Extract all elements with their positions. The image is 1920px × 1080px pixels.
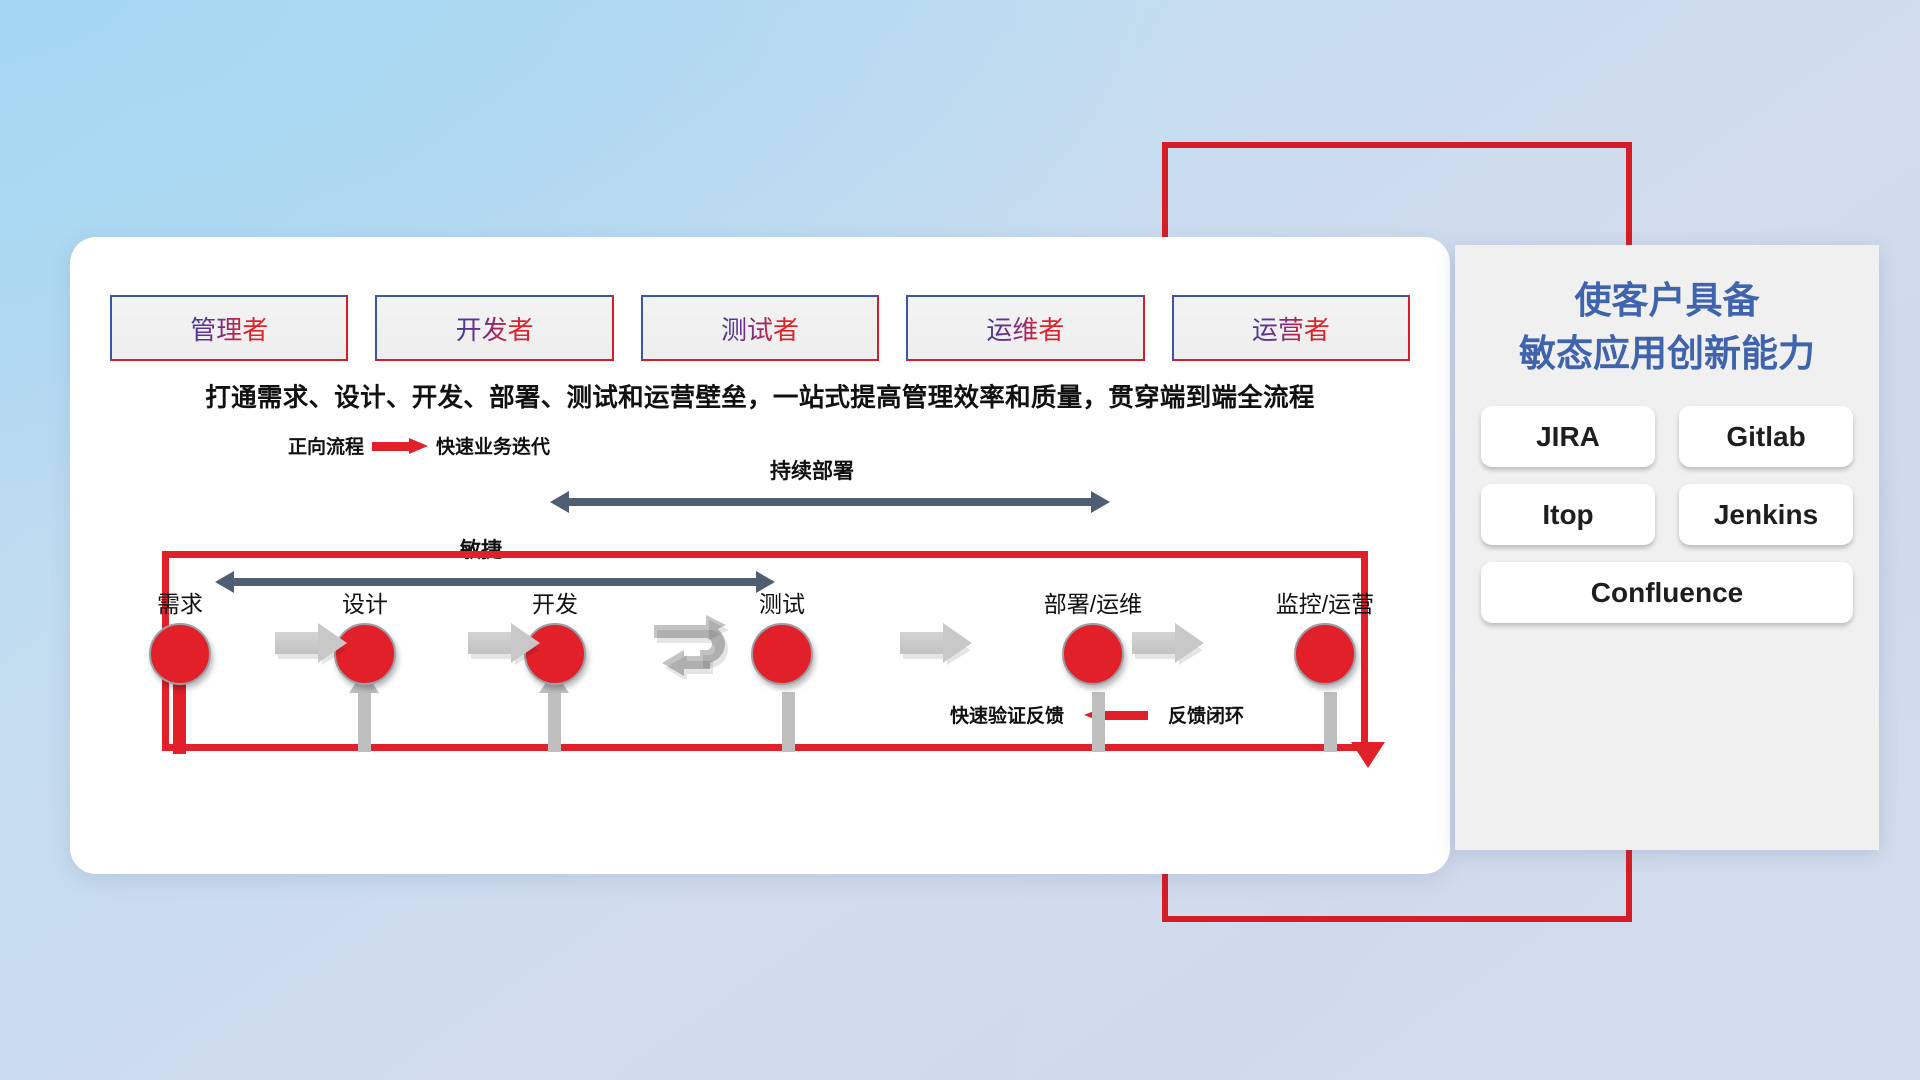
role-label: 管理者 (190, 310, 268, 347)
stage-label: 设计 (290, 585, 440, 619)
panel-title-line2: 敏态应用创新能力 (1481, 328, 1853, 381)
card-subtitle: 打通需求、设计、开发、部署、测试和运营壁垒，一站式提高管理效率和质量，贯穿端到端… (70, 377, 1450, 414)
role-label: 开发者 (456, 310, 534, 347)
arrow-bar (566, 498, 1094, 506)
loop-arrow-down-icon (1351, 742, 1385, 768)
stage-dot (149, 623, 211, 685)
arrow-head (511, 623, 540, 663)
legend-forward-right-label: 快速业务迭代 (436, 432, 550, 459)
role-label: 运维者 (986, 310, 1064, 347)
tool-chip-jenkins[interactable]: Jenkins (1679, 484, 1853, 545)
role-box-row: 管理者 开发者 测试者 运维者 运营者 (110, 295, 1410, 361)
arrow-head-right-icon (1091, 491, 1110, 513)
panel-title-line1: 使客户具备 (1481, 275, 1853, 328)
stage-label: 部署/运维 (1018, 585, 1168, 619)
arrow-tail (1132, 632, 1176, 654)
arrow-right-red-icon (372, 438, 428, 454)
tool-chip-itop[interactable]: Itop (1481, 484, 1655, 545)
stage-label: 开发 (480, 585, 630, 619)
legend-forward-left-label: 正向流程 (288, 432, 364, 459)
arrow-head (318, 623, 347, 663)
stage-dot (1062, 623, 1124, 685)
tool-chip-list: JIRA Gitlab Itop Jenkins Confluence (1481, 406, 1853, 623)
legend-forward-flow: 正向流程 快速业务迭代 (288, 432, 550, 459)
flow-arrow-1-icon (275, 623, 347, 663)
span-label-continuous-deployment: 持续部署 (770, 455, 854, 485)
span-arrow-continuous-deployment (550, 491, 1110, 513)
stage-dot (1294, 623, 1356, 685)
stage-dot (751, 623, 813, 685)
flow-arrow-3-icon (900, 623, 972, 663)
arrow-tail (468, 632, 512, 654)
stage-requirement[interactable]: 需求 (105, 585, 255, 685)
role-box-operator[interactable]: 运营者 (1172, 295, 1410, 361)
stage-label: 需求 (105, 585, 255, 619)
capability-panel: 使客户具备 敏态应用创新能力 JIRA Gitlab Itop Jenkins … (1455, 245, 1879, 850)
arrow-head (943, 623, 972, 663)
role-label: 测试者 (721, 310, 799, 347)
tool-chip-jira[interactable]: JIRA (1481, 406, 1655, 467)
stage-row: 需求 设计 开发 (110, 585, 1410, 745)
role-box-developer[interactable]: 开发者 (375, 295, 613, 361)
arrow-head (1175, 623, 1204, 663)
stage-label: 监控/运营 (1250, 585, 1400, 619)
tool-chip-gitlab[interactable]: Gitlab (1679, 406, 1853, 467)
flow-arrow-2-icon (468, 623, 540, 663)
loop-back-uturn-icon (650, 613, 758, 679)
flow-arrow-4-icon (1132, 623, 1204, 663)
role-label: 运营者 (1252, 310, 1330, 347)
role-box-tester[interactable]: 测试者 (641, 295, 879, 361)
tool-chip-confluence[interactable]: Confluence (1481, 562, 1853, 623)
arrow-tail (900, 632, 944, 654)
panel-title: 使客户具备 敏态应用创新能力 (1481, 275, 1853, 380)
role-box-ops[interactable]: 运维者 (906, 295, 1144, 361)
main-card: 管理者 开发者 测试者 运维者 运营者 打通需求、设计、开发、部署、测试和运营壁… (70, 237, 1450, 874)
role-box-manager[interactable]: 管理者 (110, 295, 348, 361)
stage-monitor-operate[interactable]: 监控/运营 (1250, 585, 1400, 685)
arrow-tail (275, 632, 319, 654)
